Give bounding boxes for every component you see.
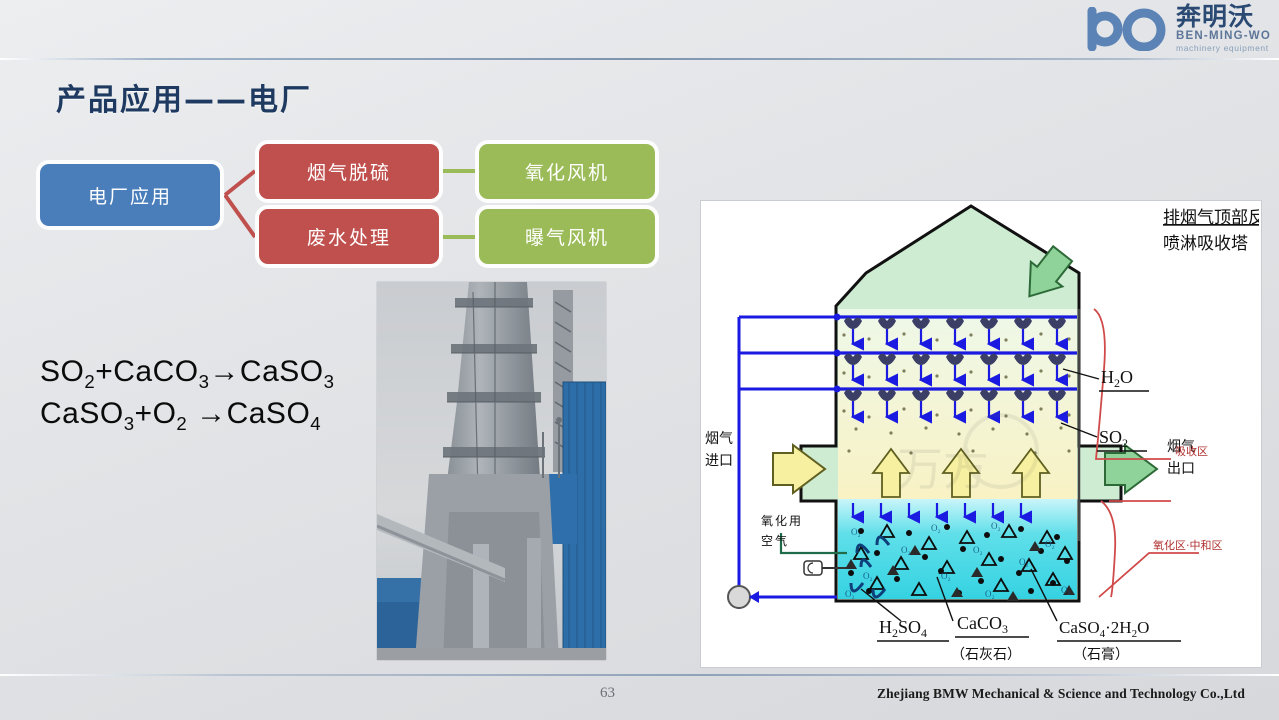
flowchart: 电厂应用 烟气脱硫 废水处理 氧化风机 曝气风机	[40, 140, 680, 280]
chemical-formulas: SO2+CaCO3→CaSO3 CaSO3+O2 →CaSO4	[40, 352, 370, 437]
diagram-title-line-2: 喷淋吸收塔	[1163, 234, 1248, 254]
inlet-label-line-1: 烟气	[705, 431, 733, 447]
plant-photo	[377, 282, 606, 660]
connector-root-to-branch-2	[225, 195, 255, 237]
inlet-label-line-2: 进口	[705, 453, 733, 469]
zone-absorption-label: 吸收区	[1175, 444, 1208, 458]
formula-line-1: SO2+CaCO3→CaSO3	[40, 352, 370, 394]
logo-chinese-name: 奔明沃	[1176, 4, 1271, 29]
flow-node-branch-1[interactable]: 烟气脱硫	[259, 144, 439, 199]
absorber-tower-diagram: O₂O₂O₂ O₂O₂O₂ O₂O₂O₂ O₂O₂O₂	[700, 200, 1262, 668]
outlet-label-line-2: 出口	[1167, 461, 1195, 477]
svg-text:O₂: O₂	[901, 545, 911, 555]
note-gypsum: （石膏）	[1073, 646, 1129, 663]
svg-text:O₂: O₂	[863, 571, 873, 581]
svg-text:O₂: O₂	[1045, 539, 1055, 549]
page-number: 63	[600, 685, 615, 702]
svg-text:O₂: O₂	[845, 589, 855, 599]
zone-oxidation-label: 氧化区·中和区	[1153, 538, 1223, 552]
flow-node-branch-2[interactable]: 废水处理	[259, 209, 439, 264]
logo-text-block: 奔明沃 BEN-MING-WO machinery equipment	[1176, 4, 1271, 54]
absorber-tower-schematic: O₂O₂O₂ O₂O₂O₂ O₂O₂O₂ O₂O₂O₂	[701, 201, 1259, 665]
bo-logo-icon	[1086, 7, 1170, 51]
formula-line-2: CaSO3+O2 →CaSO4	[40, 394, 370, 436]
svg-text:O₂: O₂	[991, 521, 1001, 531]
note-limestone: （石灰石）	[951, 647, 1021, 663]
logo-english-name: BEN-MING-WO	[1176, 31, 1271, 43]
connector-root-to-branch-1	[225, 171, 255, 195]
company-logo: 奔明沃 BEN-MING-WO machinery equipment	[1051, 2, 1271, 56]
svg-text:万方: 万方	[897, 442, 989, 496]
bottom-label-h2so4: H2SO4	[879, 617, 927, 640]
footer-divider	[0, 674, 1279, 676]
flow-node-child-1[interactable]: 氧化风机	[479, 144, 655, 199]
company-footer-text: Zhejiang BMW Mechanical & Science and Te…	[877, 686, 1245, 702]
slide: 奔明沃 BEN-MING-WO machinery equipment 产品应用…	[0, 0, 1279, 720]
logo-tagline: machinery equipment	[1176, 44, 1271, 53]
oxidation-air-label-line-1: 氧化用	[761, 514, 803, 528]
oxidation-air-label-line-2: 空气	[761, 533, 789, 548]
svg-text:O₂: O₂	[851, 527, 861, 537]
plant-photo-image	[377, 282, 606, 660]
svg-text:O₂: O₂	[973, 545, 983, 555]
page-title: 产品应用——电厂	[56, 75, 312, 119]
flow-node-child-2[interactable]: 曝气风机	[479, 209, 655, 264]
svg-text:O₂: O₂	[941, 571, 951, 581]
svg-text:O₂: O₂	[1019, 557, 1029, 567]
svg-text:O₂: O₂	[1061, 585, 1071, 595]
bottom-label-caco3: CaCO3	[957, 613, 1008, 636]
header-divider	[0, 58, 1279, 60]
svg-text:O₂: O₂	[985, 589, 995, 599]
diagram-title-line-1: 排烟气顶部反转·	[1163, 208, 1259, 228]
flow-node-root[interactable]: 电厂应用	[40, 164, 220, 226]
svg-text:O₂: O₂	[931, 523, 941, 533]
